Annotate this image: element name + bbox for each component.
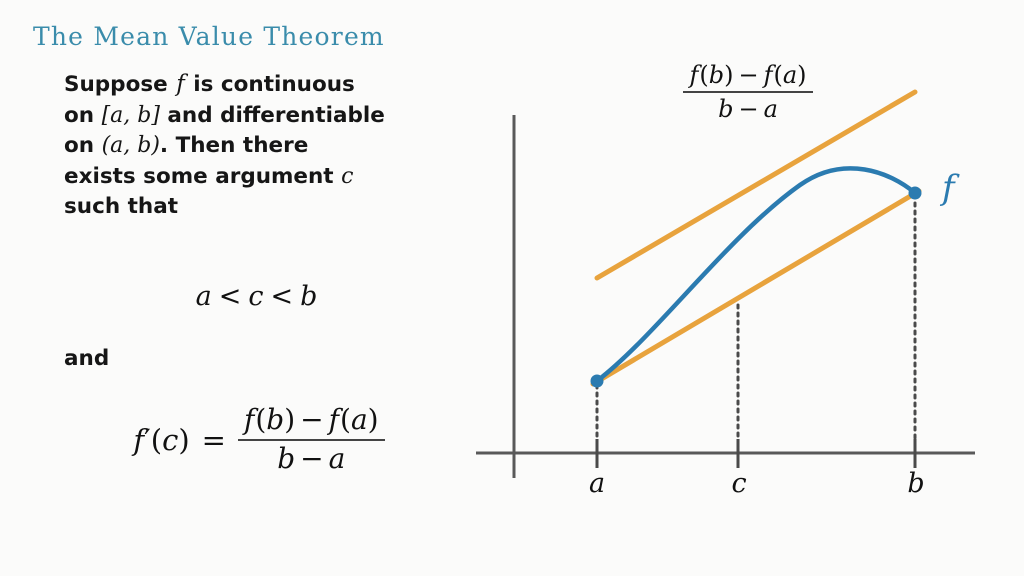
math-closed-interval: [a, b] <box>102 103 160 128</box>
statement-line-1-post: is continuous <box>186 72 355 97</box>
axis-tick-label-a: a <box>589 468 605 499</box>
page-title: The Mean Value Theorem <box>33 22 385 51</box>
lhs-prime-symbol: ′ <box>144 423 151 457</box>
slope-numerator-open2: ( <box>773 61 782 89</box>
numerator-var-a: a <box>351 403 368 436</box>
fraction-denominator: b−a <box>271 441 351 475</box>
slope-numerator-minus: − <box>733 61 763 89</box>
endpoint-dot-a <box>591 375 604 388</box>
difference-quotient-fraction: f(b)−f(a) b−a <box>238 405 385 475</box>
numerator-close2: ) <box>368 403 379 436</box>
curve-label-f: f <box>942 168 955 208</box>
axis-tick-label-b: b <box>907 468 924 499</box>
denominator-minus: − <box>295 442 328 475</box>
numerator-minus: − <box>295 403 328 436</box>
inequality-operator-1: < <box>212 281 249 312</box>
numerator-close1: ) <box>284 403 295 436</box>
numerator-var-b: b <box>266 403 284 436</box>
denominator-var-b: b <box>277 442 295 475</box>
slope-numerator: f(b)−f(a) <box>683 62 812 91</box>
numerator-f2: f <box>329 403 340 436</box>
slope-denominator-var-b: b <box>718 95 733 123</box>
slope-fraction: f(b)−f(a) b−a <box>683 62 812 123</box>
conjunction-and: and <box>64 346 109 371</box>
inequality-expression: a<c<b <box>64 281 449 312</box>
slope-numerator-var-a: a <box>783 61 797 89</box>
slope-numerator-var-b: b <box>709 61 724 89</box>
lhs-open-paren: ( <box>151 423 162 457</box>
lhs-close-paren: ) <box>178 423 189 457</box>
inequality-left-var: a <box>196 281 212 312</box>
statement-line-3-pre: on <box>64 133 102 158</box>
equation-lhs: f′(c) <box>133 423 189 457</box>
lhs-argument-c: c <box>162 423 178 457</box>
axis-tick-label-c: c <box>731 468 746 499</box>
numerator-open1: ( <box>255 403 266 436</box>
endpoint-dot-b <box>909 187 922 200</box>
statement-line-5: such that <box>64 192 464 223</box>
statement-line-3: on (a, b). Then there <box>64 131 464 162</box>
fraction-numerator: f(b)−f(a) <box>238 405 385 439</box>
slide-canvas: The Mean Value Theorem Suppose f is cont… <box>0 0 1024 576</box>
theorem-statement: Suppose f is continuous on [a, b] and di… <box>64 69 464 223</box>
mvt-derivative-equation: f′(c) = f(b)−f(a) b−a <box>64 405 454 475</box>
slope-numerator-close2: ) <box>797 61 806 89</box>
math-var-f: f <box>175 71 186 97</box>
statement-line-4: exists some argument c <box>64 162 464 193</box>
slope-numerator-f2: f <box>764 61 774 89</box>
statement-line-1: Suppose f is continuous <box>64 69 464 101</box>
statement-line-2: on [a, b] and differentiable <box>64 101 464 132</box>
statement-line-1-pre: Suppose <box>64 72 175 97</box>
lhs-function-f: f <box>133 423 144 457</box>
inequality-right-var: b <box>300 281 317 312</box>
inequality-operator-2: < <box>263 281 300 312</box>
math-open-interval: (a, b) <box>102 133 160 158</box>
function-curve <box>597 168 915 381</box>
equals-sign: = <box>190 423 238 457</box>
math-var-c: c <box>341 164 353 189</box>
numerator-open2: ( <box>340 403 351 436</box>
slope-numerator-f1: f <box>689 61 699 89</box>
statement-line-2-post: and differentiable <box>160 103 385 128</box>
slope-denominator: b−a <box>712 93 784 122</box>
numerator-f1: f <box>244 403 255 436</box>
denominator-var-a: a <box>329 442 346 475</box>
slope-expression-label: f(b)−f(a) b−a <box>648 62 848 123</box>
inequality-middle-var: c <box>248 281 263 312</box>
statement-line-3-post: . Then there <box>160 133 308 158</box>
slope-denominator-minus: − <box>733 95 763 123</box>
statement-line-4-pre: exists some argument <box>64 164 341 189</box>
statement-line-2-pre: on <box>64 103 102 128</box>
slope-numerator-open1: ( <box>699 61 708 89</box>
slope-denominator-var-a: a <box>764 95 778 123</box>
